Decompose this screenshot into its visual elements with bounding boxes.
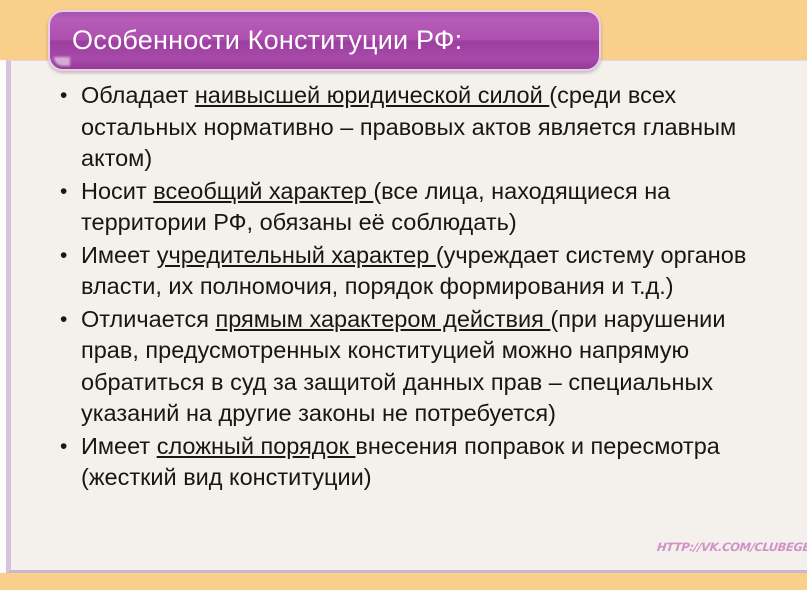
list-item: • Носит всеобщий характер (все лица, нах… bbox=[60, 176, 760, 239]
slide-canvas: Особенности Конституции РФ: • Обладает н… bbox=[0, 0, 807, 590]
slide-title: Особенности Конституции РФ: bbox=[72, 27, 462, 54]
list-item: • Имеет учредительный характер (учреждае… bbox=[60, 240, 760, 303]
bottom-peach-band bbox=[0, 573, 807, 590]
bullet-lead: Носит bbox=[81, 178, 153, 204]
bullet-emphasis: прямым характером действия bbox=[215, 306, 550, 332]
bullet-emphasis: сложный порядок bbox=[157, 433, 356, 459]
bullet-emphasis: учредительный характер bbox=[157, 242, 436, 268]
list-item: • Отличается прямым характером действия … bbox=[60, 304, 760, 430]
bullet-list: • Обладает наивысшей юридической силой (… bbox=[60, 80, 760, 495]
slide-title-plate: Особенности Конституции РФ: bbox=[48, 10, 601, 71]
watermark-link: HTTP://VK.COM/CLUBEGE32 bbox=[656, 540, 797, 554]
bullet-emphasis: всеобщий характер bbox=[153, 178, 373, 204]
bullet-point-icon: • bbox=[60, 240, 81, 272]
bullet-lead: Обладает bbox=[81, 82, 195, 108]
bullet-lead: Имеет bbox=[81, 433, 157, 459]
list-item: • Обладает наивысшей юридической силой (… bbox=[60, 80, 760, 175]
bullet-emphasis: наивысшей юридической силой bbox=[195, 82, 549, 108]
bullet-point-icon: • bbox=[60, 176, 81, 208]
list-item: • Имеет сложный порядок внесения поправо… bbox=[60, 431, 760, 494]
bullet-point-icon: • bbox=[60, 304, 81, 336]
bullet-text: Имеет учредительный характер (учреждает … bbox=[81, 240, 760, 303]
bullet-text: Имеет сложный порядок внесения поправок … bbox=[81, 431, 760, 494]
bullet-lead: Отличается bbox=[81, 306, 215, 332]
bullet-text: Обладает наивысшей юридической силой (ср… bbox=[81, 80, 760, 175]
bullet-lead: Имеет bbox=[81, 242, 157, 268]
bullet-text: Носит всеобщий характер (все лица, наход… bbox=[81, 176, 760, 239]
bullet-text: Отличается прямым характером действия (п… bbox=[81, 304, 760, 430]
bullet-point-icon: • bbox=[60, 80, 81, 112]
bullet-point-icon: • bbox=[60, 431, 81, 463]
